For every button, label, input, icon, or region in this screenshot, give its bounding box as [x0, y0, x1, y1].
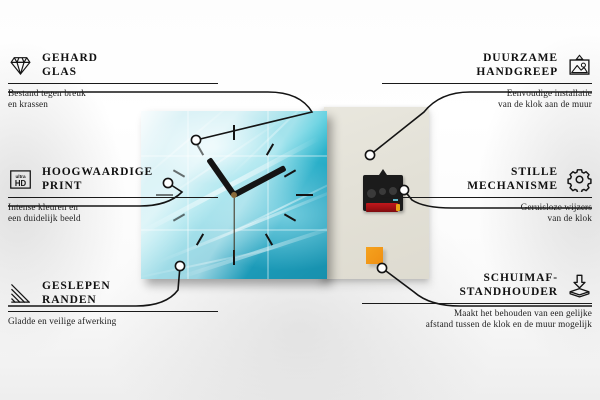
feature-title-line: STILLE: [467, 166, 558, 180]
feature-divider: [8, 197, 218, 198]
feature-geslepen-randen: GESLEPEN RANDEN Gladde en veilige afwerk…: [8, 280, 218, 327]
gear-icon: [567, 167, 592, 192]
feature-title: STILLE MECHANISME: [467, 166, 558, 193]
feature-description: Intense kleuren en een duidelijk beeld: [8, 202, 218, 225]
feature-description-line: Intense kleuren en: [8, 202, 218, 213]
feature-duurzame-handgreep: DUURZAME HANDGREEP Eenvoudige installati…: [382, 52, 592, 111]
feature-title-line: GEHARD: [42, 52, 98, 66]
glass-seam: [141, 155, 327, 157]
feature-header: DUURZAME HANDGREEP: [382, 52, 592, 79]
picture-frame-icon: [567, 53, 592, 78]
feature-gehard-glas: GEHARD GLAS Bestand tegen breuk en krass…: [8, 52, 218, 111]
feature-title-line: DUURZAME: [476, 52, 558, 66]
clock-tick-3: [296, 194, 313, 196]
feature-description-line: Bestand tegen breuk: [8, 88, 218, 99]
feature-title: GESLEPEN RANDEN: [42, 280, 111, 307]
feature-title-line: GESLEPEN: [42, 280, 111, 294]
feature-title-line: STANDHOUDER: [459, 286, 558, 300]
ultra-hd-icon: ultra HD: [8, 167, 33, 192]
feature-description-line: een duidelijk beeld: [8, 213, 218, 224]
feature-stille-mechanisme: STILLE MECHANISME Geruisloze wijzers van…: [382, 166, 592, 225]
feature-title-line: GLAS: [42, 66, 98, 80]
feature-description-line: Maakt het behouden van een gelijke: [362, 308, 592, 319]
feature-description-line: en krassen: [8, 99, 218, 110]
feature-description-line: van de klok: [382, 213, 592, 224]
beveled-edge-icon: [8, 281, 33, 306]
feature-description-line: Geruisloze wijzers: [382, 202, 592, 213]
clock-tick-4: [284, 213, 296, 221]
feature-divider: [8, 83, 218, 84]
spacer-pad-icon: [567, 273, 592, 298]
feature-description: Maakt het behouden van een gelijke afsta…: [362, 308, 592, 331]
feature-header: STILLE MECHANISME: [382, 166, 592, 193]
clock-tick-11: [196, 143, 204, 155]
feature-header: GEHARD GLAS: [8, 52, 218, 79]
feature-title-line: HOOGWAARDIGE: [42, 166, 153, 180]
feature-title-line: SCHUIMAF-: [459, 272, 558, 286]
svg-text:HD: HD: [15, 179, 27, 188]
feature-description-line: Eenvoudige installatie: [382, 88, 592, 99]
clock-tick-12: [233, 125, 235, 140]
feature-description-line: afstand tussen de klok en de muur mogeli…: [362, 319, 592, 330]
feature-header: GESLEPEN RANDEN: [8, 280, 218, 307]
mechanism-knob: [367, 189, 376, 198]
feature-hoogwaardige-print: ultra HD HOOGWAARDIGE PRINT Intense kleu…: [8, 166, 218, 225]
glass-seam: [267, 111, 269, 279]
feature-title-line: RANDEN: [42, 294, 111, 308]
diamond-icon: [8, 53, 33, 78]
feature-description-line: van de klok aan de muur: [382, 99, 592, 110]
feature-divider: [382, 197, 592, 198]
clock-second-hand: [233, 195, 234, 257]
feature-title-line: HANDGREEP: [476, 66, 558, 80]
feature-header: SCHUIMAF- STANDHOUDER: [362, 272, 592, 299]
feature-title-line: PRINT: [42, 180, 153, 194]
feature-description-line: Gladde en veilige afwerking: [8, 316, 218, 327]
feature-divider: [8, 311, 218, 312]
foam-spacer: [366, 247, 383, 264]
feature-title: SCHUIMAF- STANDHOUDER: [459, 272, 558, 299]
infographic-canvas: GEHARD GLAS Bestand tegen breuk en krass…: [0, 0, 600, 400]
feature-title: DUURZAME HANDGREEP: [476, 52, 558, 79]
feature-description: Eenvoudige installatie van de klok aan d…: [382, 88, 592, 111]
clock-hub: [231, 192, 237, 198]
feature-schuimafstandhouder: SCHUIMAF- STANDHOUDER Maakt het behouden…: [362, 272, 592, 331]
feature-description: Geruisloze wijzers van de klok: [382, 202, 592, 225]
feature-title: HOOGWAARDIGE PRINT: [42, 166, 153, 193]
feature-divider: [382, 83, 592, 84]
feature-divider: [362, 303, 592, 304]
feature-description: Gladde en veilige afwerking: [8, 316, 218, 327]
feature-title-line: MECHANISME: [467, 180, 558, 194]
feature-title: GEHARD GLAS: [42, 52, 98, 79]
feature-description: Bestand tegen breuk en krassen: [8, 88, 218, 111]
feature-header: ultra HD HOOGWAARDIGE PRINT: [8, 166, 218, 193]
